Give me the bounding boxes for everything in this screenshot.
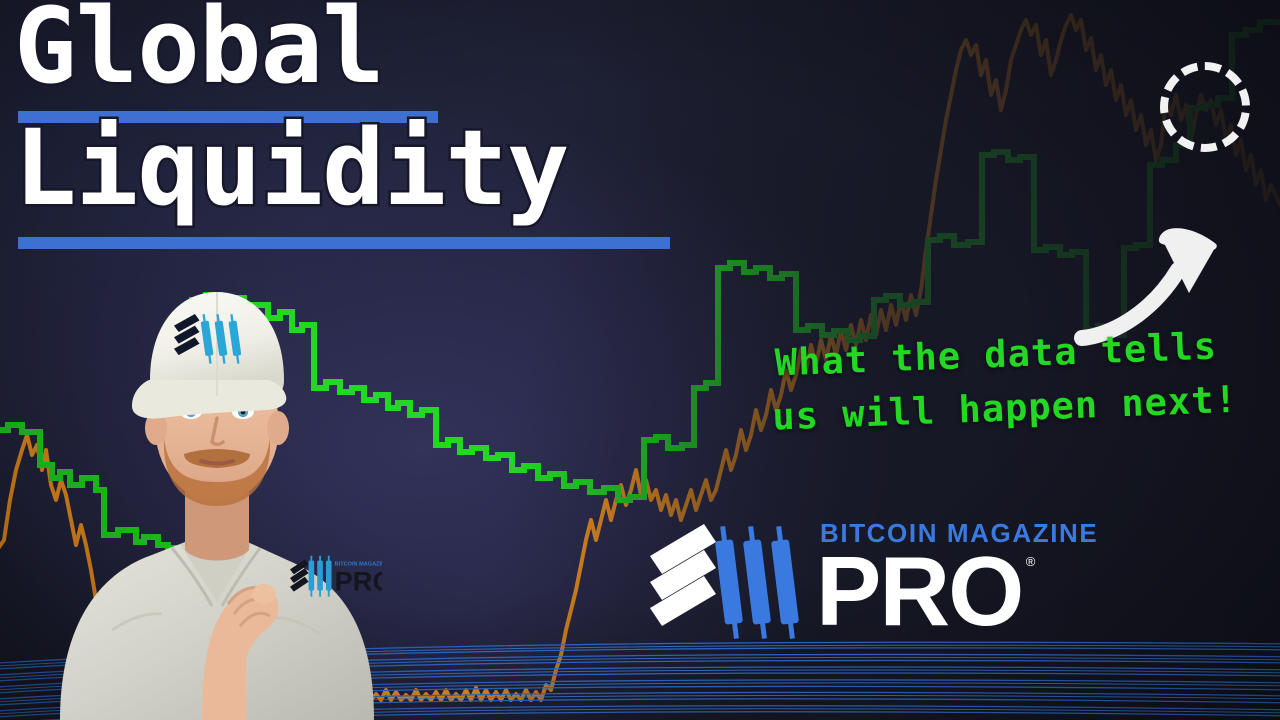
logo-candles-icon — [715, 526, 799, 639]
thumbnail-canvas: Global Liquidity What the data tells us … — [0, 0, 1280, 720]
logo-main-label: PRO — [816, 548, 1022, 634]
logo-bars-icon — [650, 524, 716, 626]
bitcoin-magazine-pro-logo: BITCOIN MAGAZINE PRO ® — [648, 520, 1098, 645]
logo-pro-wrap: PRO ® — [816, 548, 1022, 634]
dashed-focus-circle-icon — [1160, 62, 1250, 152]
title-underline-bar-2 — [18, 237, 670, 249]
headline-line-2-text: Liquidity — [14, 107, 569, 229]
headline-line-1: Global — [14, 0, 569, 98]
presenter-cap — [132, 292, 286, 419]
presenter-svg: BITCOIN MAGAZINE PRO — [52, 230, 382, 720]
shirt-logo-label: PRO — [335, 565, 382, 596]
presenter-photo: BITCOIN MAGAZINE PRO — [52, 230, 382, 720]
headline-line-1-text: Global — [14, 0, 384, 107]
logo-mark-icon — [648, 520, 806, 645]
headline: Global Liquidity — [14, 0, 569, 220]
caption-text: What the data tells us will happen next! — [740, 318, 1254, 445]
registered-mark-icon: ® — [1026, 554, 1036, 569]
logo-wordmark: BITCOIN MAGAZINE PRO ® — [816, 520, 1098, 634]
headline-line-2: Liquidity — [14, 116, 569, 220]
